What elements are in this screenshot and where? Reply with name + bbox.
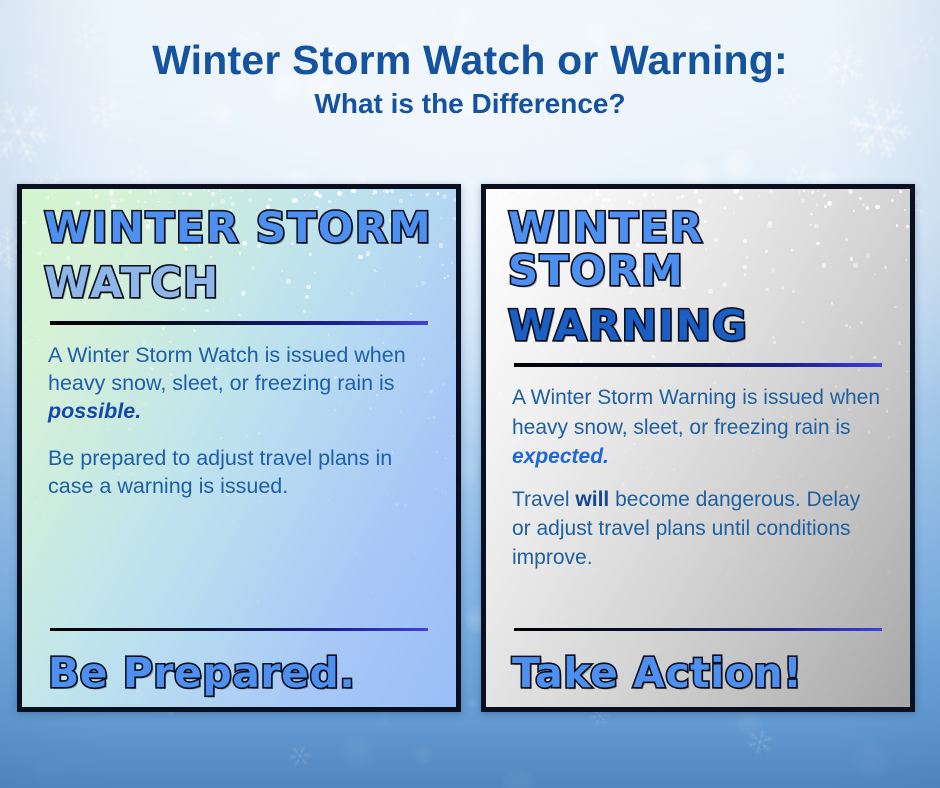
card-watch-heading-line1: WINTER STORM bbox=[44, 207, 434, 250]
card-warning-emphasis-expected: expected. bbox=[512, 445, 609, 468]
card-warning-paragraph-1-text: A Winter Storm Warning is issued when he… bbox=[512, 386, 880, 438]
card-warning-paragraph-2-text-a: Travel bbox=[512, 488, 575, 511]
card-warning-heading-line1: WINTER STORM bbox=[508, 207, 888, 293]
card-watch-paragraph-1: A Winter Storm Watch is issued when heav… bbox=[48, 341, 430, 426]
card-watch-heading: WINTER STORM WATCH bbox=[44, 207, 434, 305]
winter-storm-poster: Winter Storm Watch or Warning: What is t… bbox=[0, 0, 940, 788]
card-warning-paragraph-2: Travel will become dangerous. Delay or a… bbox=[512, 485, 884, 573]
card-warning-body: A Winter Storm Warning is issued when he… bbox=[508, 367, 888, 612]
card-watch-paragraph-1-text: A Winter Storm Watch is issued when heav… bbox=[48, 343, 406, 395]
card-watch-body: A Winter Storm Watch is issued when heav… bbox=[44, 325, 434, 612]
page-subtitle: What is the Difference? bbox=[0, 88, 940, 120]
card-winter-storm-warning: WINTER STORM WARNING A Winter Storm Warn… bbox=[481, 184, 915, 712]
page-title: Winter Storm Watch or Warning: bbox=[0, 38, 940, 82]
card-warning-emphasis-will: will bbox=[575, 488, 609, 511]
card-watch-heading-line2: WATCH bbox=[44, 262, 434, 305]
card-winter-storm-watch: WINTER STORM WATCH A Winter Storm Watch … bbox=[17, 184, 461, 712]
card-watch-emphasis-possible: possible. bbox=[48, 399, 141, 423]
card-warning-cta: Take Action! bbox=[512, 649, 884, 707]
card-warning-paragraph-1: A Winter Storm Warning is issued when he… bbox=[512, 383, 884, 471]
card-watch-cta: Be Prepared. bbox=[48, 649, 430, 707]
card-warning-heading: WINTER STORM WARNING bbox=[508, 207, 888, 347]
card-watch-paragraph-2: Be prepared to adjust travel plans in ca… bbox=[48, 444, 430, 501]
card-warning-heading-line2: WARNING bbox=[508, 305, 888, 348]
poster-header: Winter Storm Watch or Warning: What is t… bbox=[0, 38, 940, 120]
